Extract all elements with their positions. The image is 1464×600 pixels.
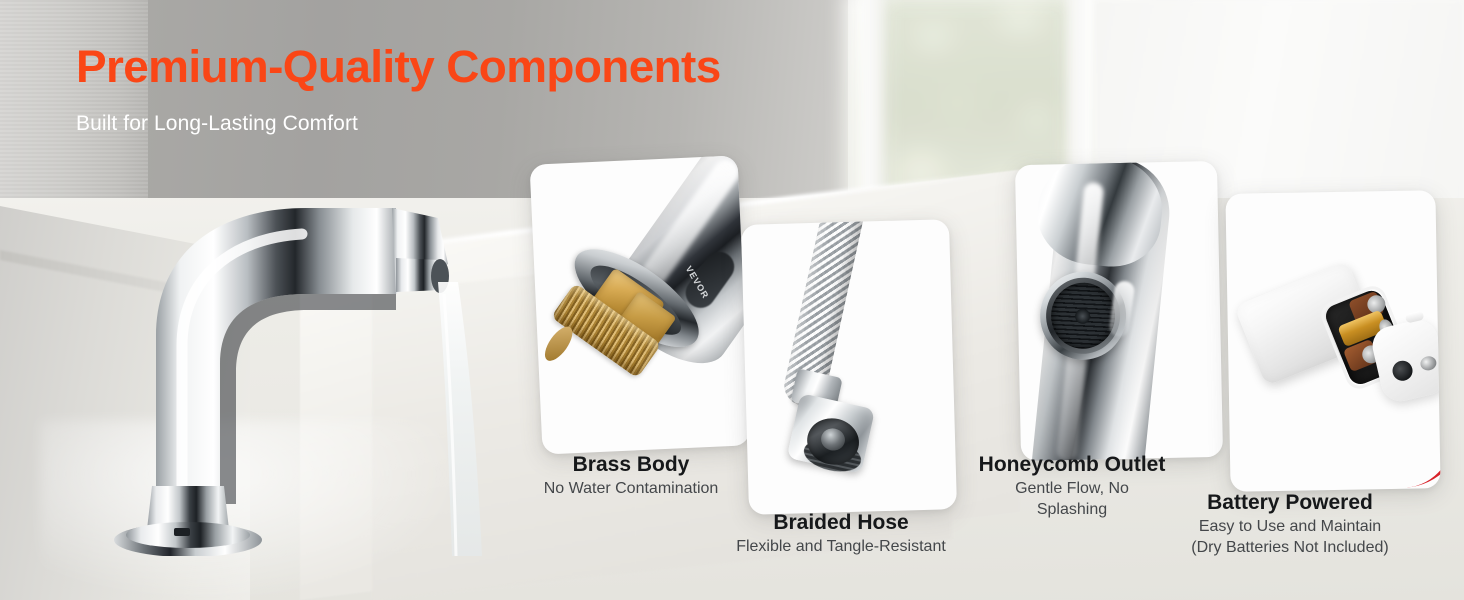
feature-card-braided-hose[interactable] — [741, 219, 957, 515]
shank-end-cap — [540, 322, 578, 365]
caption-battery-powered: Battery Powered Easy to Use and Maintain… — [1174, 490, 1406, 558]
feature-card-battery-powered[interactable] — [1225, 190, 1440, 492]
promo-banner: Premium-Quality Components Built for Lon… — [0, 0, 1464, 600]
page-title: Premium-Quality Components — [76, 41, 721, 93]
feature-card-brass-body[interactable]: VEVOR — [530, 155, 751, 454]
hero-faucet — [96, 186, 516, 556]
caption-subtitle-line-2: (Dry Batteries Not Included) — [1174, 537, 1406, 558]
caption-braided-hose: Braided Hose Flexible and Tangle-Resista… — [722, 510, 960, 557]
caption-title: Braided Hose — [722, 510, 960, 536]
brass-body-image: VEVOR — [530, 155, 751, 454]
caption-subtitle-line-1: Gentle Flow, No — [962, 478, 1182, 499]
page-subtitle: Built for Long-Lasting Comfort — [76, 112, 358, 136]
caption-honeycomb-outlet: Honeycomb Outlet Gentle Flow, No Splashi… — [962, 452, 1182, 520]
caption-subtitle-line-1: No Water Contamination — [520, 478, 742, 499]
caption-title: Battery Powered — [1174, 490, 1406, 516]
caption-title: Brass Body — [520, 452, 742, 478]
braided-hose-image — [741, 219, 957, 515]
battery-box-image — [1225, 190, 1440, 492]
caption-subtitle-line-2: Splashing — [962, 499, 1182, 520]
caption-title: Honeycomb Outlet — [962, 452, 1182, 478]
caption-subtitle-line-1: Easy to Use and Maintain — [1174, 516, 1406, 537]
feature-card-honeycomb-outlet[interactable] — [1015, 161, 1223, 461]
honeycomb-outlet-image — [1015, 161, 1223, 461]
caption-subtitle-line-1: Flexible and Tangle-Resistant — [722, 536, 960, 557]
caption-brass-body: Brass Body No Water Contamination — [520, 452, 742, 499]
